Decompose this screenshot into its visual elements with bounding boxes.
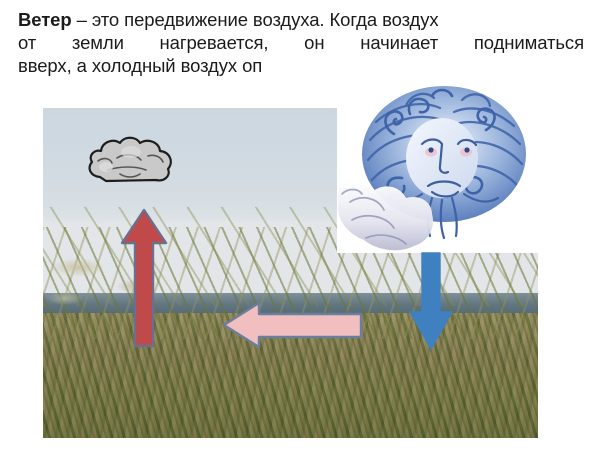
caption-line-2: от земли нагревается, он начинает подним… xyxy=(18,31,584,54)
arrow-up-warm-air xyxy=(119,207,169,349)
arrow-left-wind xyxy=(221,299,364,349)
arrow-down-cold-air xyxy=(408,250,454,352)
caption-line-3: вверх, а холодный воздух оп xyxy=(18,54,584,77)
caption-line-1-rest: – это передвижение воздуха. Когда воздух xyxy=(72,9,439,30)
slide-caption: Ветер – это передвижение воздуха. Когда … xyxy=(18,8,584,77)
wind-spirit-face-illustration xyxy=(336,82,534,254)
cartoon-cloud xyxy=(86,135,176,187)
caption-lead-word: Ветер xyxy=(18,9,72,30)
caption-line-1: Ветер – это передвижение воздуха. Когда … xyxy=(18,8,584,31)
